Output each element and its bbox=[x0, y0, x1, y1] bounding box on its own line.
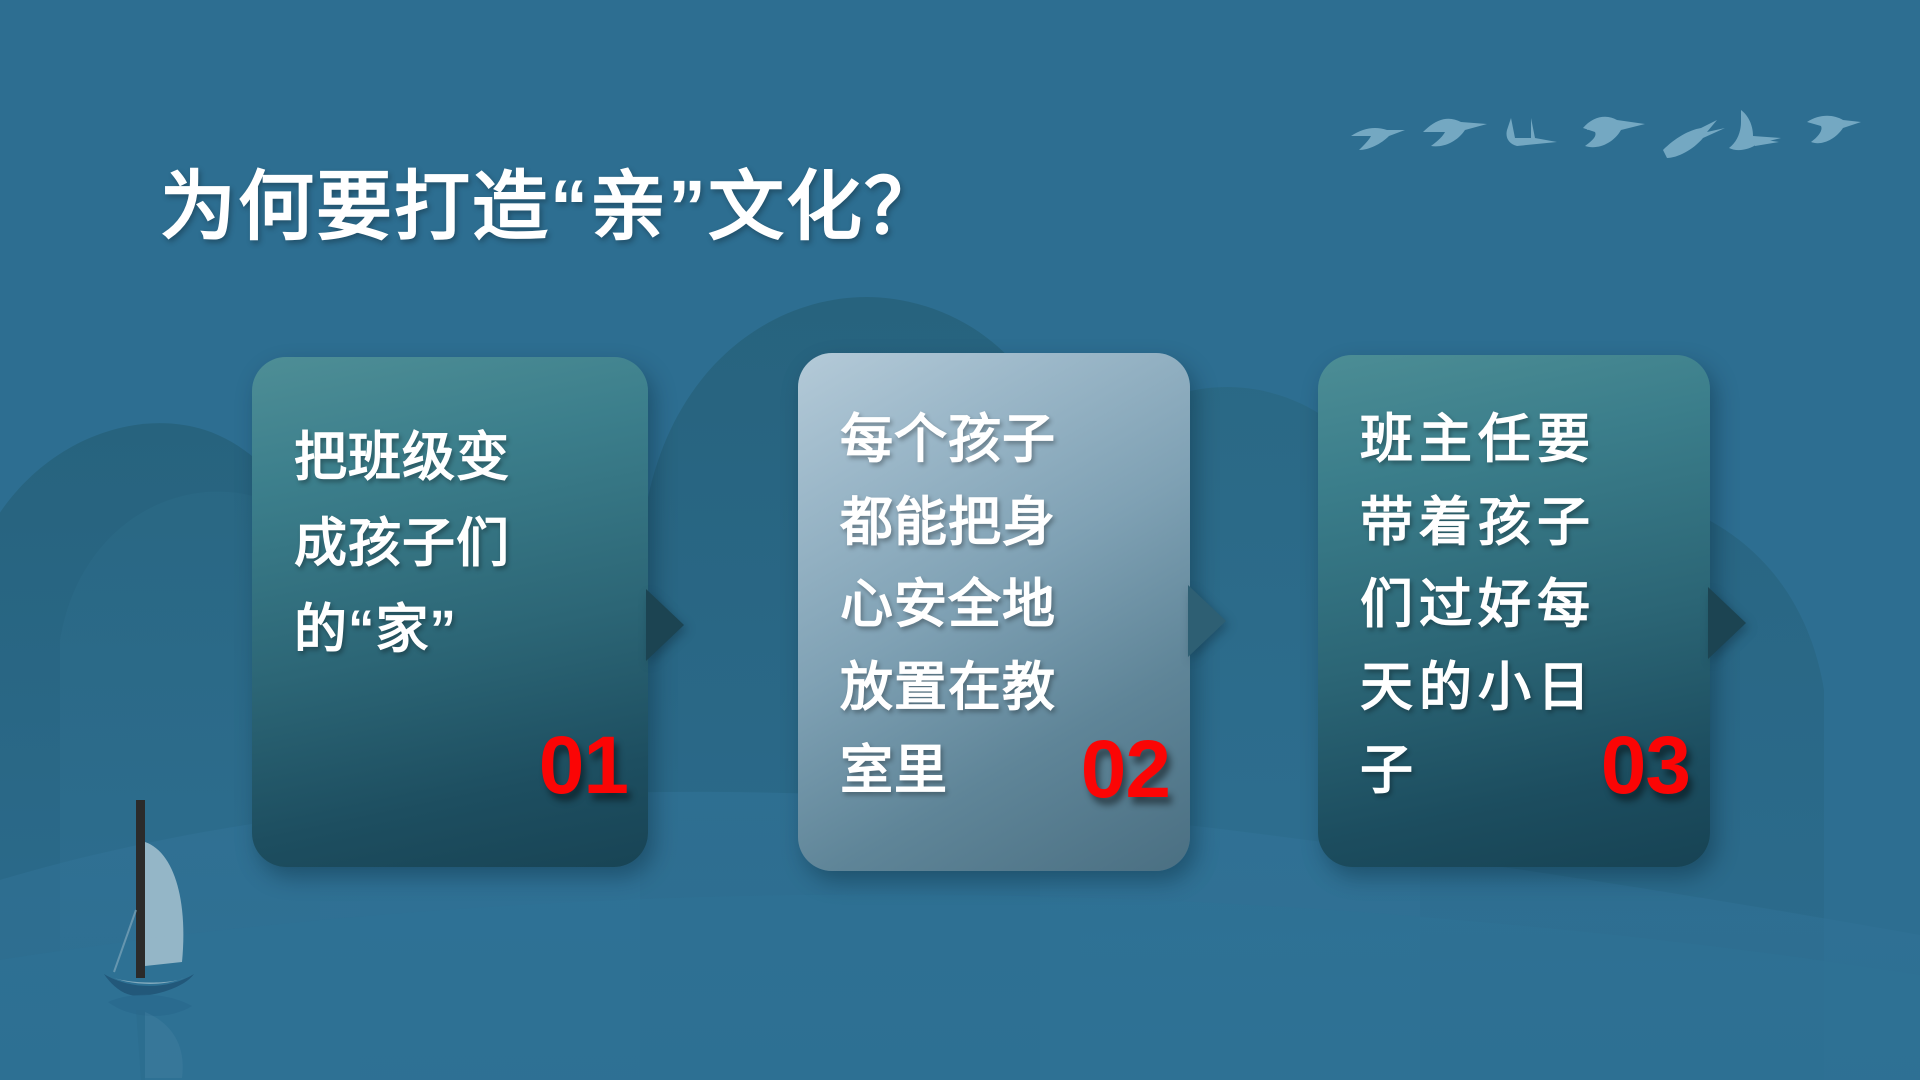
chevron-right-icon bbox=[1188, 585, 1226, 657]
card-2-body: 每个孩子 都能把身 心安全地 放置在教 室里 02 bbox=[798, 353, 1190, 871]
chevron-right-icon bbox=[1708, 587, 1746, 659]
sailboat-icon bbox=[92, 790, 272, 1080]
flying-birds-icon bbox=[1345, 88, 1865, 178]
page-title: 为何要打造“亲”文化？ bbox=[160, 168, 942, 248]
slide-canvas: 为何要打造“亲”文化？ 把班级变 成孩子们 的“家” 01 每个孩子 都能把身 … bbox=[0, 0, 1920, 1080]
info-card-3[interactable]: 班主任要 带着孩子 们过好每 天的小日 子 03 bbox=[1318, 355, 1710, 867]
card-1-body: 把班级变 成孩子们 的“家” 01 bbox=[252, 357, 648, 867]
info-card-2[interactable]: 每个孩子 都能把身 心安全地 放置在教 室里 02 bbox=[798, 353, 1190, 871]
card-2-number: 02 bbox=[1081, 729, 1170, 811]
card-3-body: 班主任要 带着孩子 们过好每 天的小日 子 03 bbox=[1318, 355, 1710, 867]
card-3-number: 03 bbox=[1601, 725, 1690, 807]
card-1-number: 01 bbox=[539, 725, 628, 807]
card-1-text: 把班级变 成孩子们 的“家” bbox=[294, 415, 612, 673]
info-card-1[interactable]: 把班级变 成孩子们 的“家” 01 bbox=[252, 357, 648, 867]
chevron-right-icon bbox=[646, 589, 684, 661]
